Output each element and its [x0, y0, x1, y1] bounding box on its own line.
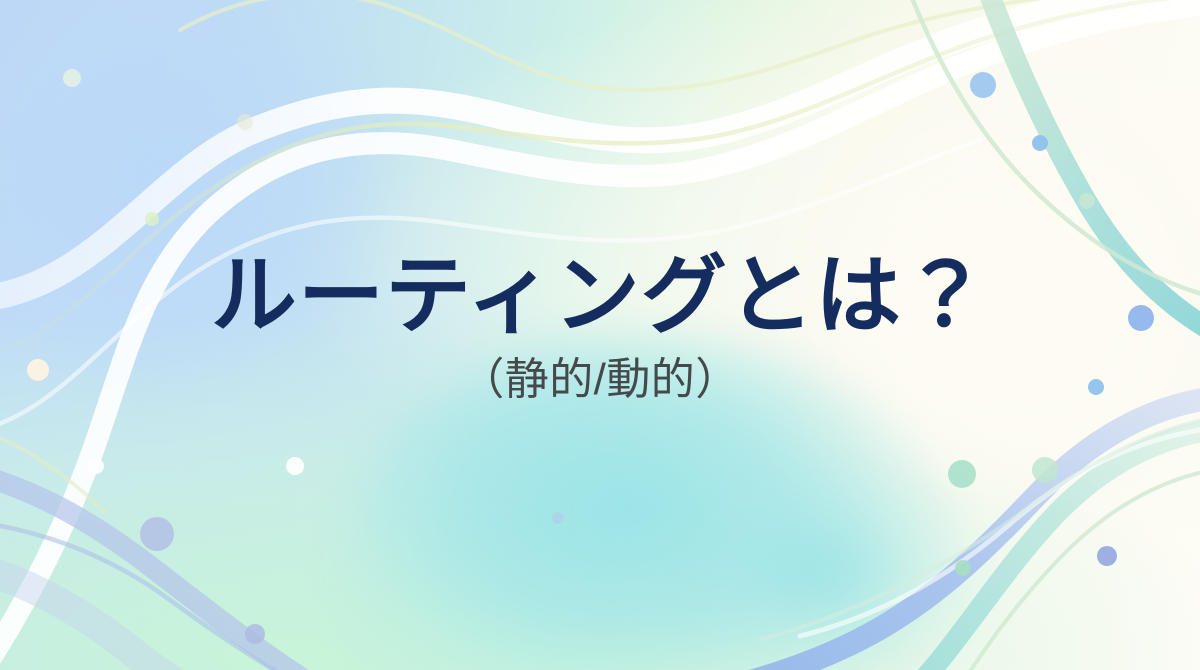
slide-subtitle: （静的/動的）: [460, 355, 739, 406]
slide-title: ルーティングとは？: [211, 250, 989, 343]
title-block: ルーティングとは？ （静的/動的）: [0, 0, 1200, 670]
title-slide: ルーティングとは？ （静的/動的）: [0, 0, 1200, 670]
